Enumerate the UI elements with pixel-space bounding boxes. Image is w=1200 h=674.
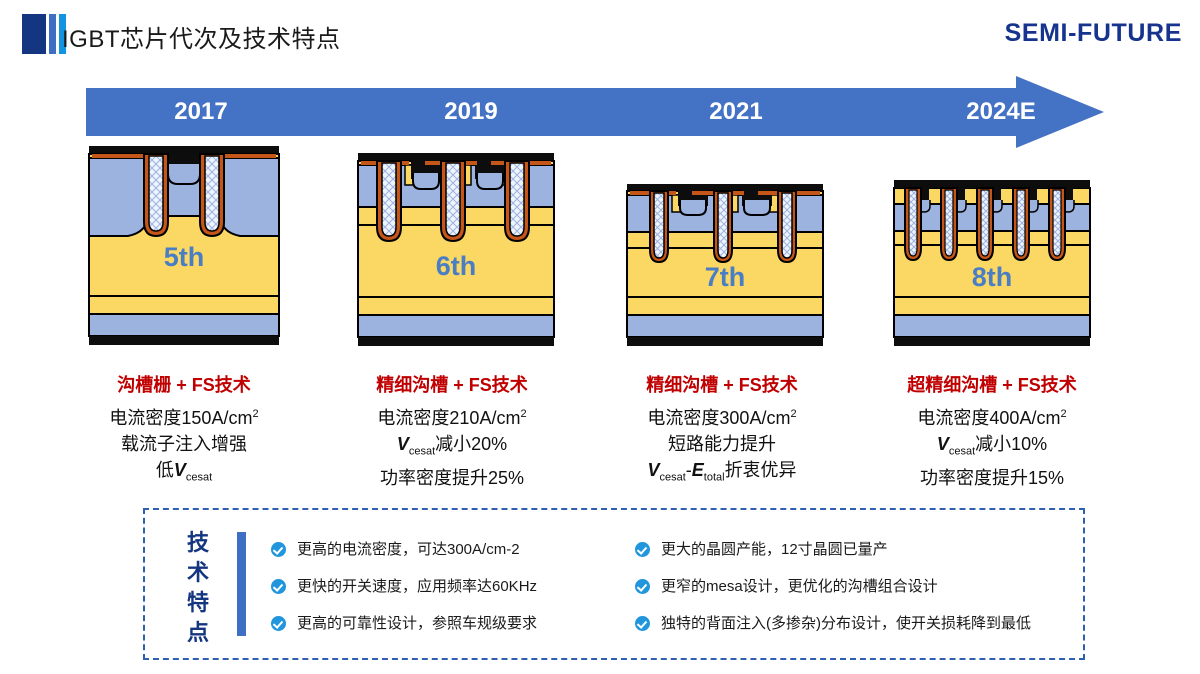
caption-line-5th-3: 低Vcesat <box>54 457 314 491</box>
check-icon <box>271 579 286 594</box>
caption-line-8th-2: Vcesat减小10% <box>862 431 1122 465</box>
caption-sup: 2 <box>520 408 526 420</box>
caption-text: 电流密度210A/cm <box>377 408 520 428</box>
caption-text: 减小20% <box>435 434 507 454</box>
caption-var: V <box>937 434 949 454</box>
logo-bar-dark-icon <box>22 14 46 54</box>
features-box: 技 术 特 点 更高的电流密度，可达300A/cm-2 更快的开关速度，应用频率… <box>143 508 1085 660</box>
caption-line-8th-1: 电流密度400A/cm2 <box>862 401 1122 431</box>
check-icon <box>271 542 286 557</box>
caption-line-8th-3: 功率密度提升15% <box>862 465 1122 491</box>
check-icon <box>635 542 650 557</box>
caption-title-7th: 精细沟槽 + FS技术 <box>592 372 852 398</box>
caption-text: 减小10% <box>975 434 1047 454</box>
brand-logo-text: SEMI-FUTURE <box>1005 19 1182 48</box>
caption-gen-5th: 沟槽栅 + FS技术 电流密度150A/cm2 载流子注入增强 低Vcesat <box>54 372 314 491</box>
caption-line-5th-1: 电流密度150A/cm2 <box>54 401 314 431</box>
feature-item: 更大的晶圆产能，12寸晶圆已量产 <box>635 532 1065 568</box>
caption-text: 电流密度400A/cm <box>917 408 1060 428</box>
features-divider <box>237 532 246 636</box>
caption-text: 电流密度300A/cm <box>647 408 790 428</box>
feature-item: 更窄的mesa设计，更优化的沟槽组合设计 <box>635 569 1065 605</box>
device-cross-section-7th: 7th <box>626 182 824 352</box>
caption-sup: 2 <box>1060 408 1066 420</box>
feature-item: 更高的电流密度，可达300A/cm-2 <box>271 532 621 568</box>
caption-sub: cesat <box>409 446 435 458</box>
feature-item: 更快的开关速度，应用频率达60KHz <box>271 569 621 605</box>
caption-text: 电流密度150A/cm <box>109 408 252 428</box>
caption-sub: cesat <box>659 472 685 484</box>
device-svg-8th: 8th <box>893 178 1091 352</box>
features-label-char-1: 技 <box>181 528 215 558</box>
feature-item: 更高的可靠性设计，参照车规级要求 <box>271 606 621 642</box>
page-header: IGBT芯片代次及技术特点 SEMI-FUTURE <box>0 0 1200 68</box>
caption-title-5th: 沟槽栅 + FS技术 <box>54 372 314 398</box>
caption-title-6th: 精细沟槽 + FS技术 <box>322 372 582 398</box>
logo-mark <box>22 14 66 54</box>
device-svg-6th: 6th <box>357 151 555 352</box>
caption-line-6th-2: Vcesat减小20% <box>322 431 582 465</box>
gen-label-8th: 8th <box>972 262 1013 292</box>
feature-text: 独特的背面注入(多掺杂)分布设计，使开关损耗降到最低 <box>661 615 1031 632</box>
timeline-year-2019: 2019 <box>396 88 546 136</box>
gen-label-5th: 5th <box>164 242 205 272</box>
caption-var: E <box>692 460 704 480</box>
feature-text: 更快的开关速度，应用频率达60KHz <box>297 578 537 595</box>
feature-text: 更高的可靠性设计，参照车规级要求 <box>297 615 537 632</box>
device-svg-7th: 7th <box>626 182 824 352</box>
caption-line-7th-1: 电流密度300A/cm2 <box>592 401 852 431</box>
caption-line-7th-3: Vcesat-Etotal折衷优异 <box>592 457 852 491</box>
page-title: IGBT芯片代次及技术特点 <box>62 19 341 54</box>
caption-title-8th: 超精细沟槽 + FS技术 <box>862 372 1122 398</box>
device-cross-section-8th: 8th <box>893 178 1091 352</box>
feature-text: 更高的电流密度，可达300A/cm-2 <box>297 541 520 558</box>
device-cross-section-6th: 6th <box>357 151 555 352</box>
device-cross-section-5th: 5th <box>88 144 280 352</box>
caption-line-6th-1: 电流密度210A/cm2 <box>322 401 582 431</box>
caption-text: 折衷优异 <box>725 460 797 480</box>
caption-gen-7th: 精细沟槽 + FS技术 电流密度300A/cm2 短路能力提升 Vcesat-E… <box>592 372 852 491</box>
features-label-char-3: 特 <box>181 588 215 618</box>
features-label: 技 术 特 点 <box>181 528 215 648</box>
caption-text: 低 <box>156 460 174 480</box>
caption-gen-6th: 精细沟槽 + FS技术 电流密度210A/cm2 Vcesat减小20% 功率密… <box>322 372 582 491</box>
logo-bar-mid-icon <box>49 14 56 54</box>
features-label-char-4: 点 <box>181 618 215 648</box>
timeline-year-2021: 2021 <box>661 88 811 136</box>
features-column-left: 更高的电流密度，可达300A/cm-2 更快的开关速度，应用频率达60KHz 更… <box>271 532 621 642</box>
caption-sup: 2 <box>252 408 258 420</box>
caption-line-5th-2: 载流子注入增强 <box>54 431 314 457</box>
caption-var: V <box>397 434 409 454</box>
timeline-arrow: 2017 2019 2021 2024E <box>86 88 1116 136</box>
caption-line-7th-2: 短路能力提升 <box>592 431 852 457</box>
caption-var: V <box>647 460 659 480</box>
feature-text: 更窄的mesa设计，更优化的沟槽组合设计 <box>661 578 938 595</box>
check-icon <box>635 616 650 631</box>
feature-text: 更大的晶圆产能，12寸晶圆已量产 <box>661 541 888 558</box>
features-column-right: 更大的晶圆产能，12寸晶圆已量产 更窄的mesa设计，更优化的沟槽组合设计 独特… <box>635 532 1065 642</box>
caption-sub: cesat <box>186 472 212 484</box>
check-icon <box>635 579 650 594</box>
check-icon <box>271 616 286 631</box>
gen-label-6th: 6th <box>436 251 477 281</box>
caption-line-6th-3: 功率密度提升25% <box>322 465 582 491</box>
timeline-year-2024e: 2024E <box>926 88 1076 136</box>
timeline-year-2017: 2017 <box>126 88 276 136</box>
caption-var: V <box>174 460 186 480</box>
features-label-char-2: 术 <box>181 558 215 588</box>
caption-sup: 2 <box>790 408 796 420</box>
caption-gen-8th: 超精细沟槽 + FS技术 电流密度400A/cm2 Vcesat减小10% 功率… <box>862 372 1122 491</box>
caption-sub: total <box>704 472 725 484</box>
feature-item: 独特的背面注入(多掺杂)分布设计，使开关损耗降到最低 <box>635 606 1065 642</box>
gen-label-7th: 7th <box>705 262 746 292</box>
device-svg-5th: 5th <box>88 144 280 352</box>
caption-sub: cesat <box>949 446 975 458</box>
